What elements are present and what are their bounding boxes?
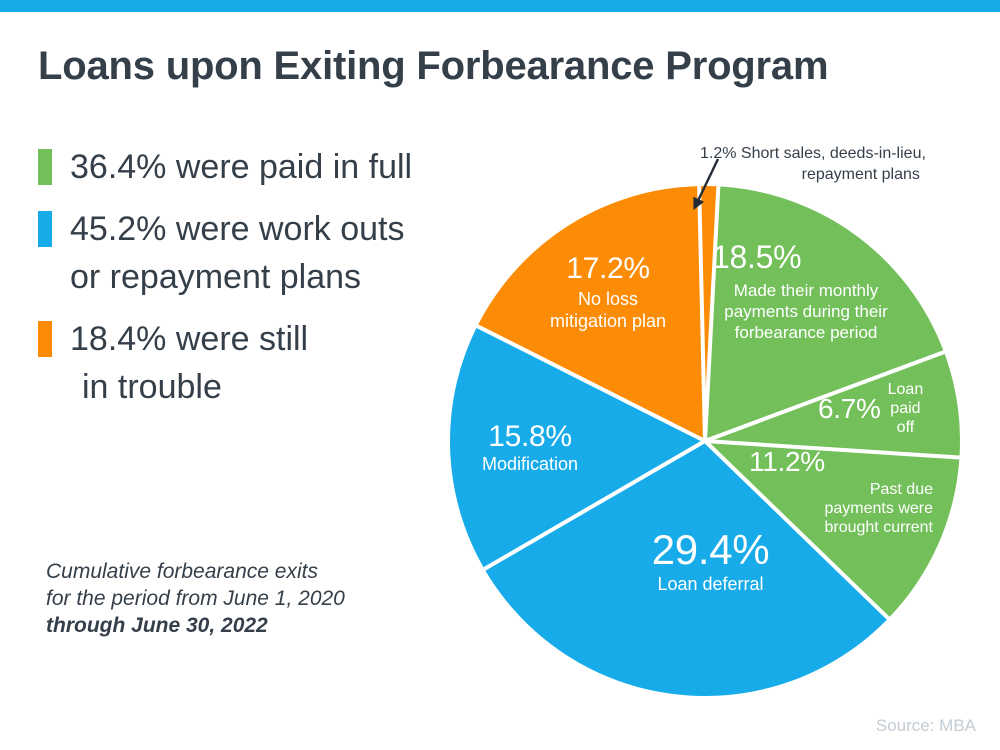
callout-line-2: repayment plans xyxy=(700,164,926,185)
top-accent-bar xyxy=(0,0,1000,12)
desc-line-2: mitigation plan xyxy=(550,311,666,331)
legend-line-2: or repayment plans xyxy=(70,253,405,301)
pie-label-pct: 17.2% xyxy=(523,252,693,286)
legend-item-paid-in-full: 36.4% were paid in full xyxy=(38,143,508,191)
pie-label-modification: 15.8% Modification xyxy=(450,420,610,474)
pie-label-desc: Loan paid off xyxy=(888,380,924,437)
desc-line-2: payments were xyxy=(825,500,934,517)
pie-label-pct: 15.8% xyxy=(450,420,610,454)
pie-label-loan-deferral: 29.4% Loan deferral xyxy=(598,526,823,594)
legend-line-1: 36.4% were paid in full xyxy=(70,143,412,191)
desc-line-1: Past due xyxy=(870,481,933,498)
source-label: Source: MBA xyxy=(876,716,976,736)
legend-line-2: in trouble xyxy=(70,363,308,411)
legend-item-still-in-trouble: 18.4% were still in trouble xyxy=(38,315,508,411)
caption: Cumulative forbearance exits for the per… xyxy=(46,558,345,639)
caption-line-2: for the period from June 1, 2020 xyxy=(46,585,345,612)
pie-label-desc: Made their monthly payments during their… xyxy=(706,280,906,343)
pie-label-loan-paid-off: 6.7% Loan paid off xyxy=(818,380,978,437)
callout-pct: 1.2% xyxy=(700,145,736,162)
caption-line-1: Cumulative forbearance exits xyxy=(46,558,345,585)
desc-line-2: paid xyxy=(890,400,920,417)
callout-line-1: Short sales, deeds-in-lieu, xyxy=(741,145,926,162)
pie-label-desc: Modification xyxy=(450,454,610,474)
legend-line-1: 18.4% were still xyxy=(70,315,308,363)
desc-line-1: No loss xyxy=(578,289,638,309)
legend-text-work-outs: 45.2% were work outs or repayment plans xyxy=(70,205,405,301)
legend: 36.4% were paid in full 45.2% were work … xyxy=(38,143,508,425)
legend-swatch-blue xyxy=(38,211,52,247)
pie-label-pct: 29.4% xyxy=(598,526,823,573)
pie-label-pct: 18.5% xyxy=(706,240,906,276)
legend-item-work-outs: 45.2% were work outs or repayment plans xyxy=(38,205,508,301)
pie-label-monthly-payments: 18.5% Made their monthly payments during… xyxy=(706,240,906,343)
pie-label-desc: No loss mitigation plan xyxy=(523,288,693,332)
legend-line-1: 45.2% were work outs xyxy=(70,205,405,253)
desc-line-3: brought current xyxy=(824,519,933,536)
legend-text-paid-in-full: 36.4% were paid in full xyxy=(70,143,412,191)
pie-label-pct: 6.7% xyxy=(818,393,881,424)
desc-line-2: payments during their xyxy=(724,302,887,321)
legend-text-still-in-trouble: 18.4% were still in trouble xyxy=(70,315,308,411)
desc-line-3: off xyxy=(897,419,915,436)
desc-line-3: forbearance period xyxy=(735,323,878,342)
pie-label-no-loss-mitigation: 17.2% No loss mitigation plan xyxy=(523,252,693,332)
pie-label-desc: Loan deferral xyxy=(598,574,823,594)
caption-line-3: through June 30, 2022 xyxy=(46,612,345,639)
pie-label-past-due: 11.2% Past due payments were brought cur… xyxy=(745,446,935,537)
desc-line-1: Loan xyxy=(888,381,924,398)
legend-swatch-orange xyxy=(38,321,52,357)
infographic-canvas: Loans upon Exiting Forbearance Program 3… xyxy=(0,0,1000,750)
callout-short-sales: 1.2% Short sales, deeds-in-lieu, repayme… xyxy=(700,143,926,185)
pie-label-pct: 11.2% xyxy=(745,446,935,477)
legend-swatch-green xyxy=(38,149,52,185)
desc-line-1: Made their monthly xyxy=(734,281,879,300)
page-title: Loans upon Exiting Forbearance Program xyxy=(38,44,828,89)
